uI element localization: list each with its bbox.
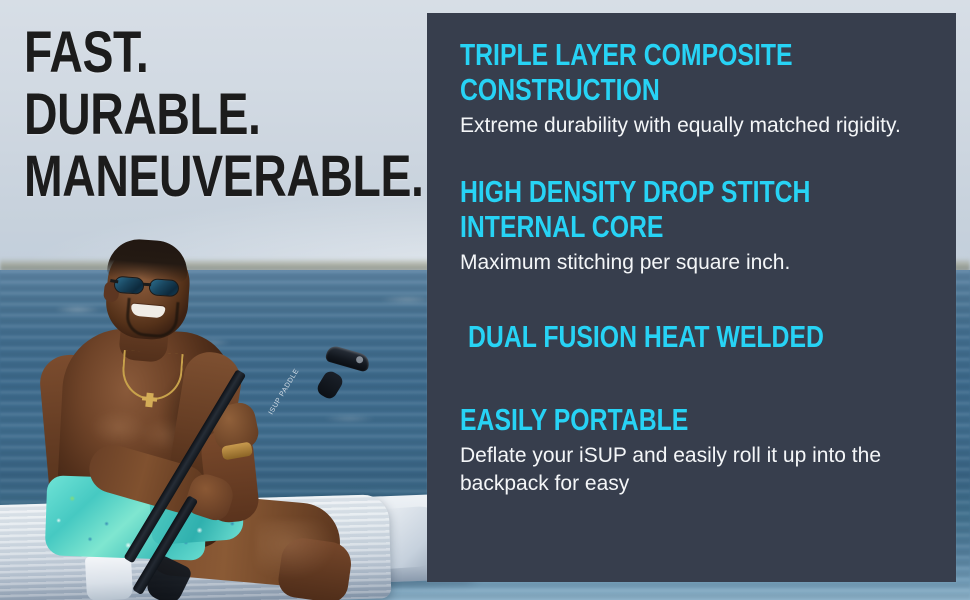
necklace-cross-pendant: [145, 393, 153, 408]
features-panel: TRIPLE LAYER COMPOSITE CONSTRUCTION Extr…: [427, 13, 956, 582]
sunglasses-left-lens: [113, 276, 144, 295]
feature-item-3: DUAL FUSION HEAT WELDED: [460, 319, 934, 354]
feature-title-4: EASILY PORTABLE: [460, 402, 934, 437]
feature-item-2: HIGH DENSITY DROP STITCH INTERNAL CORE M…: [460, 174, 934, 277]
feature-description-1: Extreme durability with equally matched …: [460, 112, 922, 140]
headline: FAST. DURABLE. MANEUVERABLE.: [24, 22, 344, 208]
feature-description-2: Maximum stitching per square inch.: [460, 249, 922, 277]
sunglasses-temple: [110, 279, 118, 283]
person-knee-highlight: [256, 520, 336, 580]
feature-title-1: TRIPLE LAYER COMPOSITE CONSTRUCTION: [460, 37, 934, 107]
headline-line-3: MANEUVERABLE.: [24, 146, 344, 208]
feature-item-4: EASILY PORTABLE Deflate your iSUP and ea…: [460, 402, 934, 498]
product-feature-banner: ISUP PADDLE FAST. DURABLE. MANEUVERABLE.…: [0, 0, 970, 600]
feature-description-4: Deflate your iSUP and easily roll it up …: [460, 442, 922, 498]
feature-title-3: DUAL FUSION HEAT WELDED: [460, 319, 942, 354]
features-list: TRIPLE LAYER COMPOSITE CONSTRUCTION Extr…: [460, 37, 934, 500]
feature-item-1: TRIPLE LAYER COMPOSITE CONSTRUCTION Extr…: [460, 37, 934, 140]
sunglasses-bridge: [143, 283, 151, 286]
headline-line-1: FAST.: [24, 22, 344, 84]
feature-title-2: HIGH DENSITY DROP STITCH INTERNAL CORE: [460, 174, 934, 244]
sunglasses-right-lens: [148, 278, 179, 297]
headline-line-2: DURABLE.: [24, 84, 344, 146]
